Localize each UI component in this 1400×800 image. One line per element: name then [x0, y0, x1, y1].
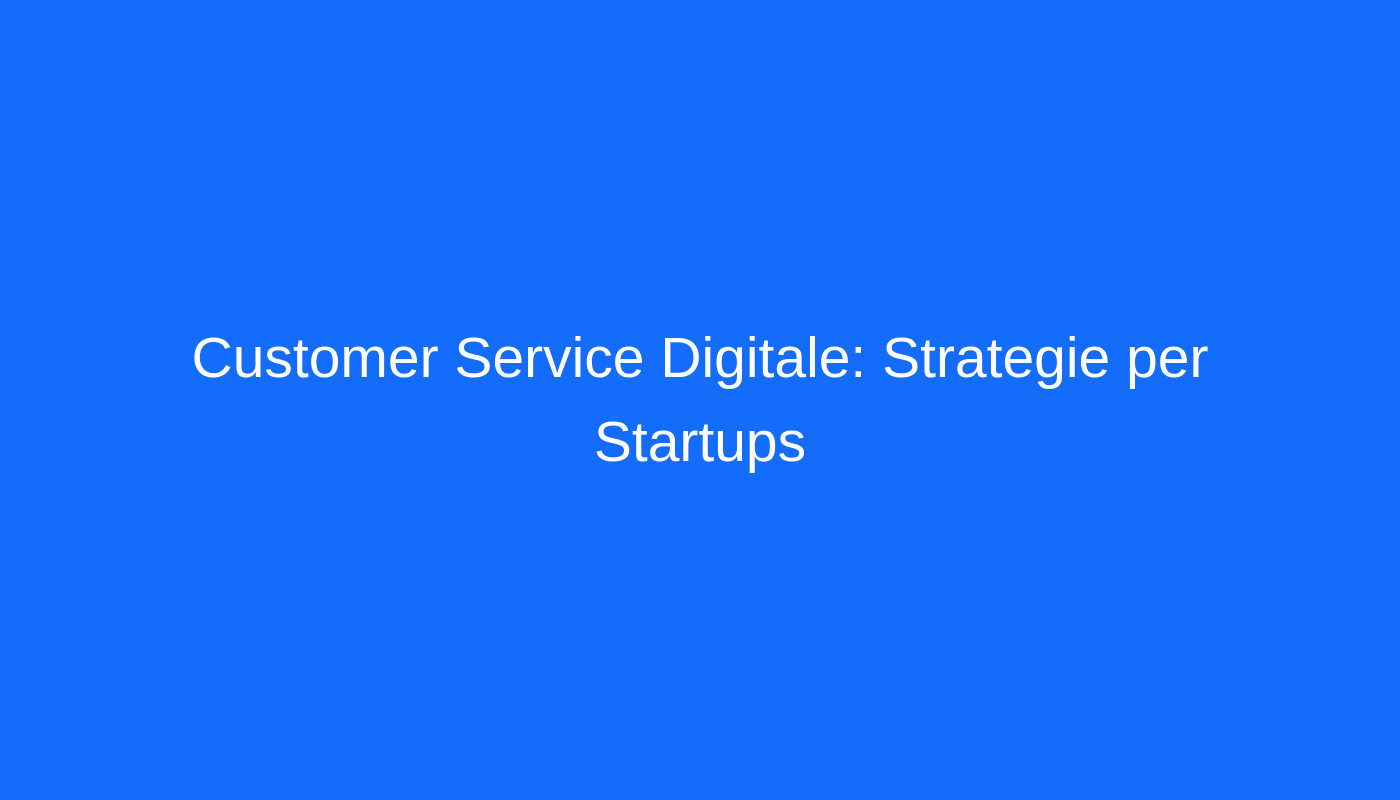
- hero-banner: Customer Service Digitale: Strategie per…: [0, 0, 1400, 800]
- hero-content: Customer Service Digitale: Strategie per…: [150, 316, 1250, 484]
- page-title: Customer Service Digitale: Strategie per…: [150, 316, 1250, 484]
